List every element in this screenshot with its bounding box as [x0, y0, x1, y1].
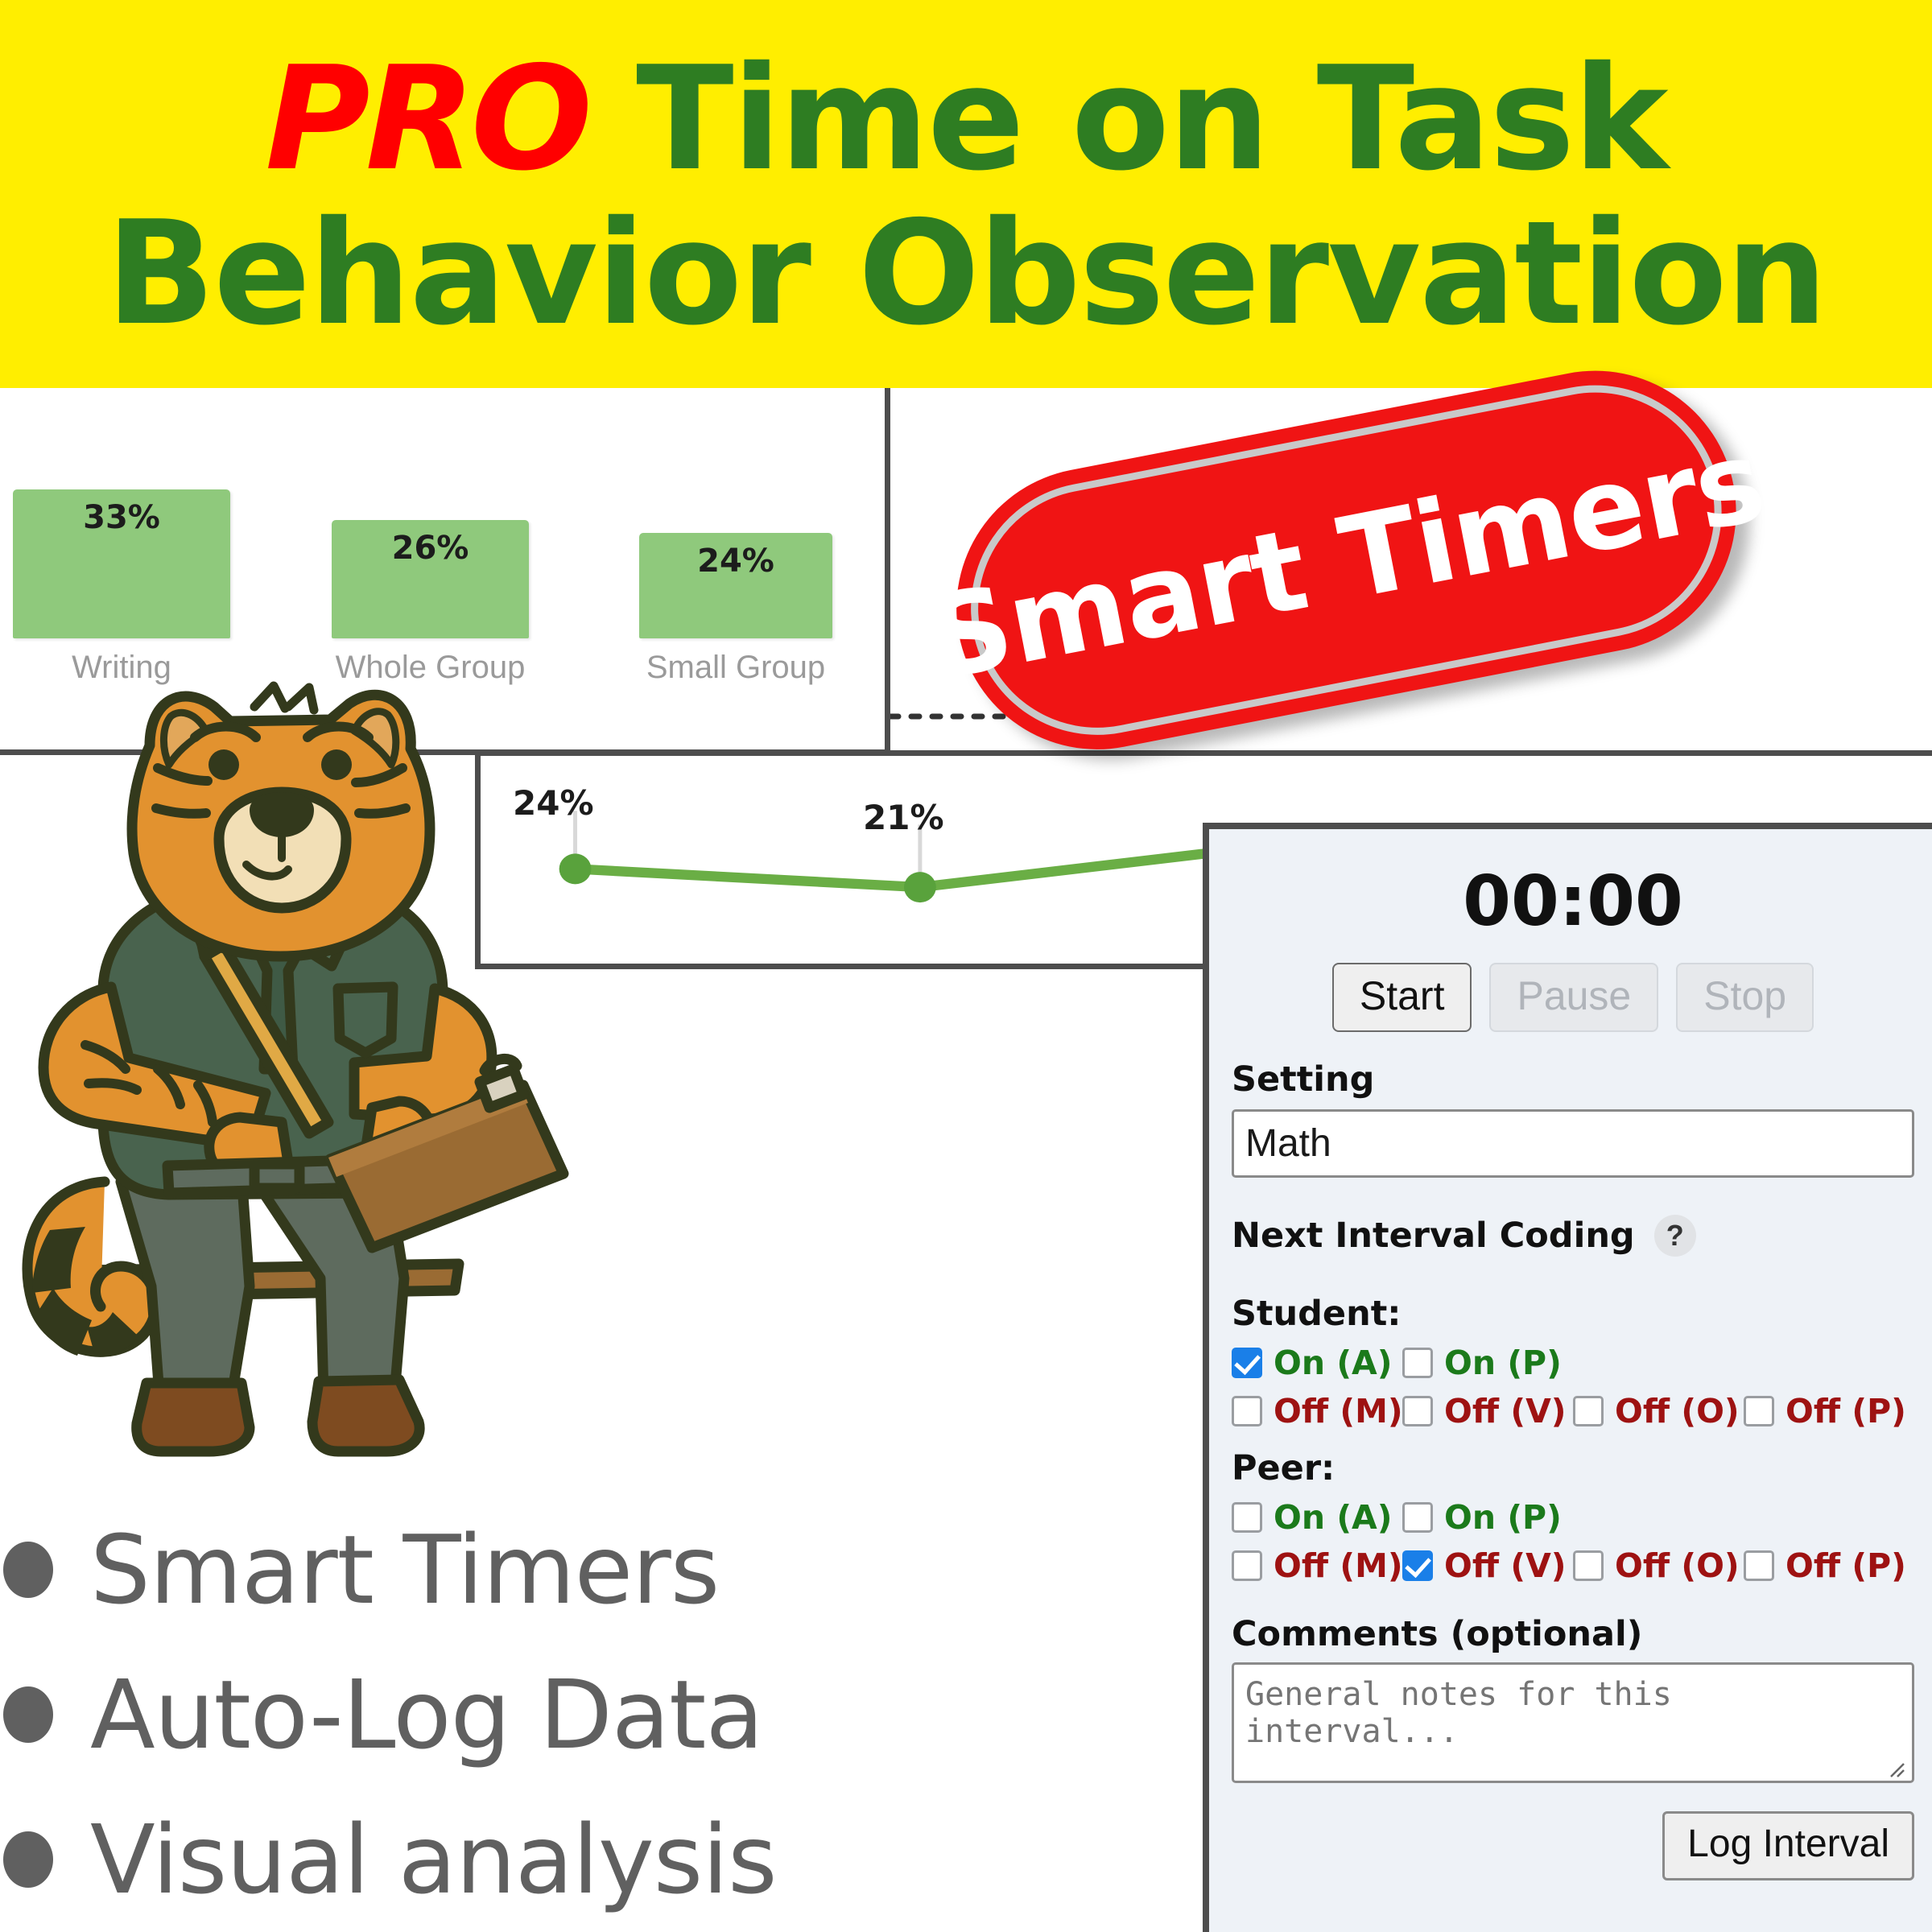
checkbox-icon[interactable]: [1402, 1502, 1433, 1533]
student-off-v-label: Off (V): [1444, 1392, 1567, 1430]
peer-on-p[interactable]: On (P): [1402, 1498, 1573, 1537]
checkbox-icon[interactable]: [1402, 1396, 1433, 1426]
bar-small-group: 24%: [639, 533, 832, 638]
feature-list: Smart Timers Auto-Log Data Visual analys…: [0, 1497, 1143, 1932]
comments-field-wrap: [1232, 1662, 1914, 1787]
bar-value-writing: 33%: [13, 499, 230, 536]
checkbox-icon[interactable]: [1744, 1396, 1774, 1426]
checkbox-icon[interactable]: [1232, 1502, 1262, 1533]
peer-off-v-label: Off (V): [1444, 1546, 1567, 1585]
peer-on-p-label: On (P): [1444, 1498, 1562, 1537]
checkbox-icon[interactable]: [1232, 1396, 1262, 1426]
stop-button[interactable]: Stop: [1676, 963, 1814, 1032]
student-on-row: On (A) On (P): [1232, 1344, 1914, 1382]
student-off-o[interactable]: Off (O): [1573, 1392, 1744, 1430]
student-off-p-label: Off (P): [1785, 1392, 1906, 1430]
bar-column-small-group: 24% Small Group: [639, 533, 832, 686]
student-on-a[interactable]: On (A): [1232, 1344, 1402, 1382]
log-interval-row: Log Interval: [1232, 1811, 1914, 1880]
checkbox-icon[interactable]: [1573, 1550, 1604, 1581]
bar-writing: 33%: [13, 489, 230, 638]
student-off-m-label: Off (M): [1274, 1392, 1403, 1430]
feature-item-0: Smart Timers: [0, 1497, 1143, 1642]
student-on-p-label: On (P): [1444, 1344, 1562, 1382]
timer-display: 00:00: [1232, 861, 1914, 942]
student-off-p[interactable]: Off (P): [1744, 1392, 1914, 1430]
feature-label-0: Smart Timers: [90, 1514, 719, 1625]
bar-column-writing: 33% Writing: [13, 489, 230, 686]
peer-off-o-label: Off (O): [1615, 1546, 1740, 1585]
header-title-line2: Behavior Observation: [106, 204, 1827, 344]
peer-on-a-label: On (A): [1274, 1498, 1393, 1537]
student-off-v[interactable]: Off (V): [1402, 1392, 1573, 1430]
smart-timers-badge-label: Smart Timers: [932, 346, 1761, 774]
student-off-row: Off (M) Off (V) Off (O) Off (P): [1232, 1392, 1914, 1430]
bar-value-small-group: 24%: [639, 543, 832, 580]
timer-controls: Start Pause Stop: [1232, 963, 1914, 1032]
next-interval-coding-header: Next Interval Coding ?: [1232, 1215, 1914, 1257]
start-button[interactable]: Start: [1332, 963, 1472, 1032]
header-banner: PRO Time on Task Behavior Observation: [0, 0, 1932, 388]
help-icon[interactable]: ?: [1654, 1215, 1696, 1257]
peer-on-a[interactable]: On (A): [1232, 1498, 1402, 1537]
setting-input[interactable]: [1232, 1109, 1914, 1178]
pro-badge-text: PRO: [265, 35, 588, 202]
next-interval-coding-label: Next Interval Coding: [1232, 1216, 1635, 1256]
student-group-title: Student:: [1232, 1294, 1914, 1334]
bullet-dot-icon: [3, 1831, 53, 1888]
feature-label-2: Visual analysis: [90, 1804, 777, 1915]
student-off-m[interactable]: Off (M): [1232, 1392, 1402, 1430]
peer-off-m-label: Off (M): [1274, 1546, 1403, 1585]
log-interval-button[interactable]: Log Interval: [1662, 1811, 1914, 1880]
interval-timer-panel: 00:00 Start Pause Stop Setting Next Inte…: [1203, 823, 1932, 1932]
feature-item-1: Auto-Log Data: [0, 1642, 1143, 1787]
peer-off-p-label: Off (P): [1785, 1546, 1906, 1585]
student-on-p[interactable]: On (P): [1402, 1344, 1573, 1382]
bar-column-whole-group: 26% Whole Group: [332, 520, 529, 686]
bar-label-small-group: Small Group: [646, 650, 825, 686]
bar-whole-group: 26%: [332, 520, 529, 638]
header-title-text: Time on Task: [636, 35, 1667, 202]
student-on-a-label: On (A): [1274, 1344, 1393, 1382]
header-title-line1: PRO Time on Task: [265, 49, 1666, 189]
bullet-dot-icon: [3, 1542, 53, 1598]
pause-button[interactable]: Pause: [1489, 963, 1658, 1032]
comments-label: Comments (optional): [1232, 1614, 1914, 1654]
checkbox-icon[interactable]: [1232, 1348, 1262, 1378]
checkbox-icon[interactable]: [1744, 1550, 1774, 1581]
peer-off-v[interactable]: Off (V): [1402, 1546, 1573, 1585]
peer-on-row: On (A) On (P): [1232, 1498, 1914, 1537]
student-off-o-label: Off (O): [1615, 1392, 1740, 1430]
checkbox-icon[interactable]: [1232, 1550, 1262, 1581]
checkbox-icon[interactable]: [1402, 1348, 1433, 1378]
peer-group-title: Peer:: [1232, 1448, 1914, 1488]
checkbox-icon[interactable]: [1402, 1550, 1433, 1581]
feature-label-1: Auto-Log Data: [90, 1659, 763, 1770]
checkbox-icon[interactable]: [1573, 1396, 1604, 1426]
comments-textarea[interactable]: [1232, 1662, 1914, 1783]
bullet-dot-icon: [3, 1686, 53, 1743]
setting-label: Setting: [1232, 1059, 1914, 1100]
feature-item-2: Visual analysis: [0, 1787, 1143, 1932]
peer-off-o[interactable]: Off (O): [1573, 1546, 1744, 1585]
smart-timers-badge-shape: Smart Timers: [932, 346, 1761, 774]
bar-value-whole-group: 26%: [332, 530, 529, 567]
peer-off-row: Off (M) Off (V) Off (O) Off (P): [1232, 1546, 1914, 1585]
line-point-label-2: 21%: [863, 798, 944, 837]
tiger-teacher-illustration: [8, 667, 572, 1480]
peer-off-p[interactable]: Off (P): [1744, 1546, 1914, 1585]
peer-off-m[interactable]: Off (M): [1232, 1546, 1402, 1585]
